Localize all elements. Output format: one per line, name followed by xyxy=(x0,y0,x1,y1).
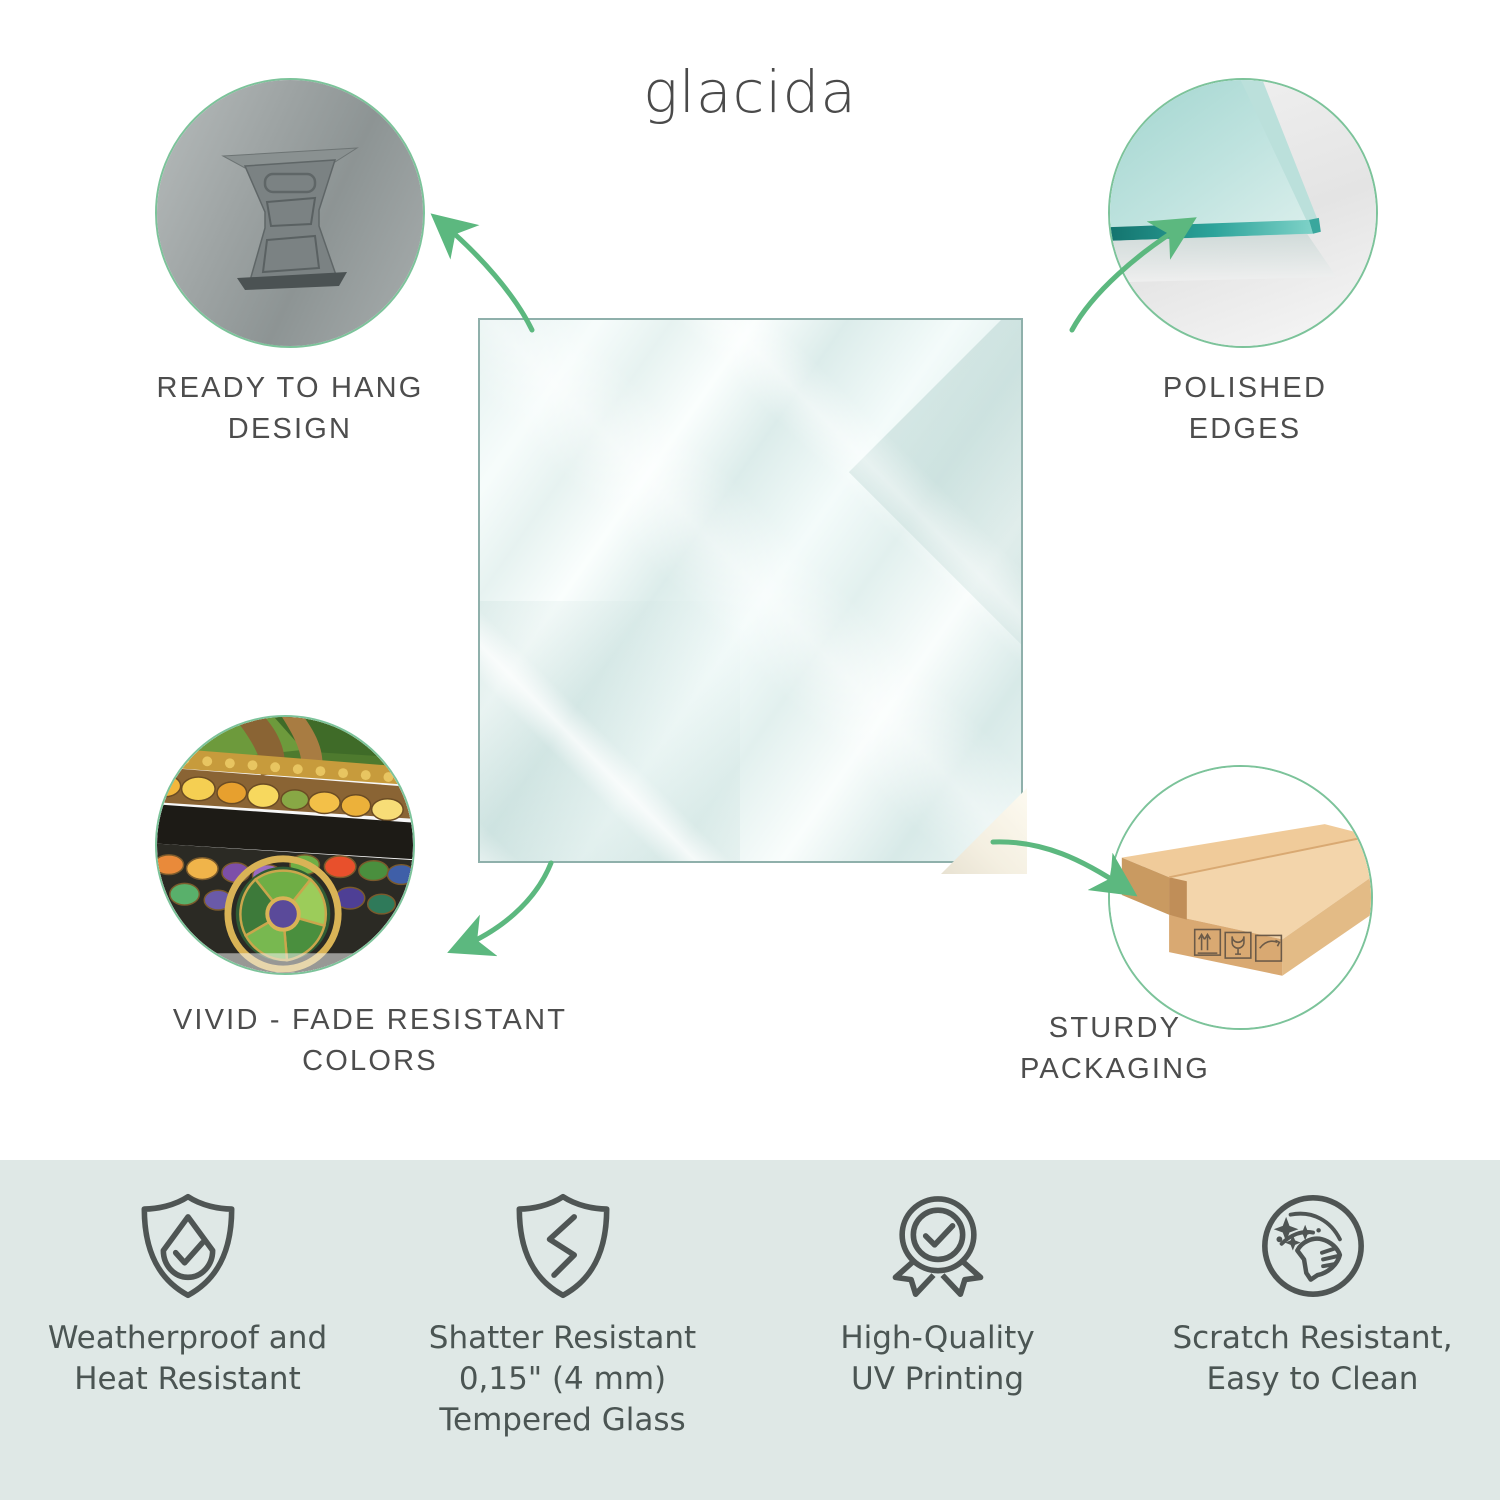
mounting-bracket-icon xyxy=(215,128,365,298)
product-glass-panel xyxy=(478,318,1023,863)
bottom-feature-strip: Weatherproof and Heat Resistant Shatter … xyxy=(0,1160,1500,1500)
arrow-to-vivid-colors-icon xyxy=(435,855,625,975)
feature-circle-vivid-colors xyxy=(155,715,415,975)
strip-label-shatter-resistant: Shatter Resistant 0,15" (4 mm) Tempered … xyxy=(429,1318,696,1442)
feature-caption-vivid-colors: VIVID - FADE RESISTANT COLORS xyxy=(110,1000,630,1082)
strip-label-weatherproof: Weatherproof and Heat Resistant xyxy=(48,1318,327,1400)
arrow-to-ready-to-hang-icon xyxy=(420,185,610,335)
strip-item-uv-printing: High-Quality UV Printing xyxy=(750,1160,1125,1500)
strip-label-scratch-resistant: Scratch Resistant, Easy to Clean xyxy=(1172,1318,1452,1400)
feature-circle-polished-edges xyxy=(1108,78,1378,348)
feature-caption-polished-edges: POLISHED EDGES xyxy=(1055,368,1435,450)
shipping-box-icon xyxy=(1110,767,1371,1028)
shield-water-drop-check-icon xyxy=(132,1190,244,1302)
strip-item-weatherproof: Weatherproof and Heat Resistant xyxy=(0,1160,375,1500)
award-ribbon-check-icon xyxy=(882,1190,994,1302)
strip-item-scratch-resistant: Scratch Resistant, Easy to Clean xyxy=(1125,1160,1500,1500)
feature-circle-sturdy-packaging xyxy=(1108,765,1373,1030)
feature-circle-ready-to-hang xyxy=(155,78,425,348)
polished-glass-edge-illustration xyxy=(1110,80,1376,346)
strip-item-shatter-resistant: Shatter Resistant 0,15" (4 mm) Tempered … xyxy=(375,1160,750,1500)
shield-crack-icon xyxy=(507,1190,619,1302)
feature-caption-ready-to-hang: READY TO HANG DESIGN xyxy=(80,368,500,450)
feature-caption-sturdy-packaging: STURDY PACKAGING xyxy=(945,1008,1285,1090)
strip-label-uv-printing: High-Quality UV Printing xyxy=(840,1318,1034,1400)
stained-glass-art-illustration xyxy=(157,717,413,973)
glass-tint-overlay-secondary xyxy=(480,601,740,861)
sparkle-hand-wipe-icon xyxy=(1257,1190,1369,1302)
